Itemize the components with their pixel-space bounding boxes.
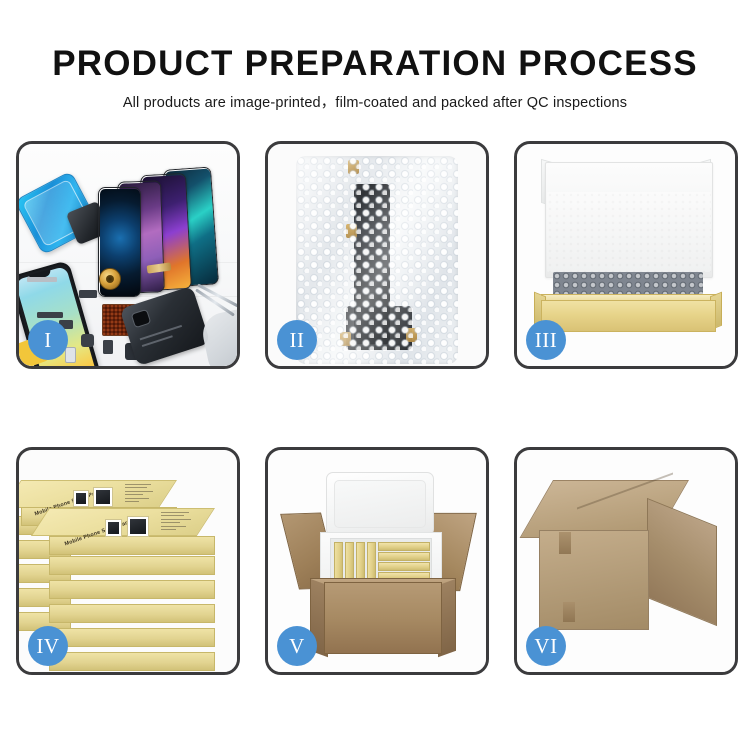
step-badge-2: II (277, 320, 317, 360)
plain-box-icon (49, 628, 215, 647)
yellow-box-icon (378, 552, 430, 561)
plain-box-icon (49, 556, 215, 575)
step-panel-1[interactable]: I (16, 141, 240, 369)
page-subtitle: All products are image-printed，film-coat… (0, 91, 750, 112)
part-small-icon (79, 290, 97, 298)
step-panel-5[interactable]: V (265, 447, 489, 675)
step-badge-4: IV (28, 626, 68, 666)
speaker-coil-icon (99, 268, 121, 290)
yellow-box-icon (378, 562, 430, 571)
styrofoam-lid-icon (326, 472, 434, 536)
process-step-grid: I II (16, 141, 738, 675)
carton-tape-icon (559, 532, 571, 554)
step-panel-6[interactable]: VI (514, 447, 738, 675)
product-preparation-infographic: PRODUCT PREPARATION PROCESS All products… (0, 0, 750, 750)
step-badge-3: III (526, 320, 566, 360)
plastic-sheen-icon (296, 156, 458, 364)
plain-box-icon (49, 652, 215, 671)
bubble-wrap-bag-icon (296, 156, 458, 364)
carton-front-face-icon (539, 530, 649, 630)
carton-front-icon (324, 582, 442, 654)
yellow-box-icon (378, 542, 430, 551)
page-title: PRODUCT PREPARATION PROCESS (0, 44, 750, 84)
part-small-icon (37, 312, 63, 318)
sim-tray-icon (65, 347, 76, 363)
part-small-icon (103, 340, 113, 354)
yellow-box-front-icon (541, 300, 716, 332)
printed-box-second-icon: Mobile Phone Spare Parts (49, 508, 215, 560)
plain-box-icon (49, 604, 215, 623)
foam-sheet-icon (547, 192, 711, 272)
step-badge-1: I (28, 320, 68, 360)
header: PRODUCT PREPARATION PROCESS All products… (0, 0, 750, 112)
plain-box-icon (49, 580, 215, 599)
carton-tape-icon (563, 602, 575, 622)
part-small-icon (81, 334, 94, 347)
step-panel-3[interactable]: III (514, 141, 738, 369)
step-panel-4[interactable]: Mobile Phone Spare Parts Mobile Phone Sp… (16, 447, 240, 675)
step-panel-2[interactable]: II (265, 141, 489, 369)
step-badge-5: V (277, 626, 317, 666)
step-badge-6: VI (526, 626, 566, 666)
part-strip-icon (27, 277, 57, 282)
